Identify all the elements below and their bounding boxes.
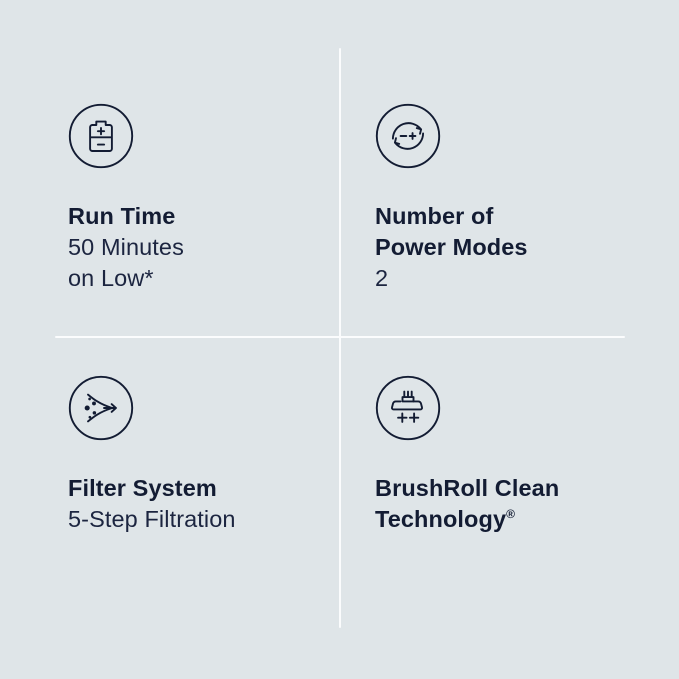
battery-icon [68,103,134,169]
feature-title: Filter System [68,473,315,504]
feature-cell-run-time: Run Time 50 Minutes on Low* [0,0,339,337]
feature-title: BrushRoll Clean Technology® [375,473,655,535]
feature-title: Run Time [68,201,315,232]
brushroll-vacuum-head-icon [375,375,441,441]
feature-subtitle: 2 [375,263,655,294]
product-spec-board: Run Time 50 Minutes on Low* [0,0,679,679]
filter-particles-icon [68,375,134,441]
feature-subtitle: 50 Minutes on Low* [68,232,315,294]
feature-title-text: BrushRoll Clean Technology [375,475,559,532]
feature-subtitle: 5-Step Filtration [68,504,315,535]
registered-trademark-symbol: ® [506,507,515,521]
feature-grid: Run Time 50 Minutes on Low* [0,0,679,679]
feature-cell-filter-system: Filter System 5-Step Filtration [0,337,339,679]
feature-cell-power-modes: Number of Power Modes 2 [339,0,679,337]
power-modes-cycle-icon [375,103,441,169]
feature-cell-brushroll-clean: BrushRoll Clean Technology® [339,337,679,679]
feature-title: Number of Power Modes [375,201,655,263]
